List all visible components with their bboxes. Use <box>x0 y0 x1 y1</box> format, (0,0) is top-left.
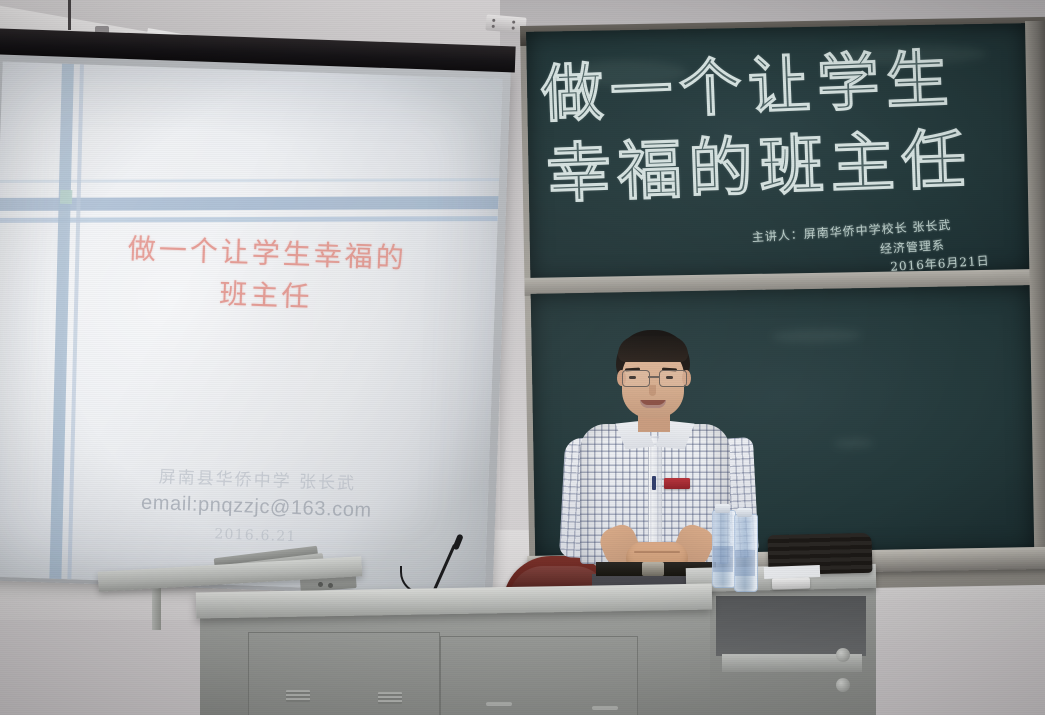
mobile-phone <box>772 578 810 590</box>
speaker-belt-buckle <box>642 562 664 576</box>
eyeglasses-icon <box>618 370 690 386</box>
cabinet-vent-right <box>378 692 402 704</box>
paper-sheet <box>764 565 820 579</box>
water-bottle-cap-right <box>737 508 752 517</box>
right-desk-recess <box>716 596 866 656</box>
dock-port-a <box>318 582 323 587</box>
projection-screen-surface: 做一个让学生幸福的 班主任 屏南县华侨中学 张长武 email:pnqzzjc@… <box>0 62 503 594</box>
slide-title: 做一个让学生幸福的 班主任 <box>0 224 497 325</box>
right-desk-knob-lower[interactable] <box>836 678 850 692</box>
blackboard-chalk-title-line2: 幸福的班主任 <box>545 108 974 215</box>
blackboard-upper-panel: 做一个让学生 幸福的班主任 主讲人：屏南华侨中学校长 张长武 经济管理系 201… <box>526 23 1030 282</box>
classroom-photo: 做一个让学生 幸福的班主任 主讲人：屏南华侨中学校长 张长武 经济管理系 201… <box>0 0 1045 715</box>
slide-subtitle-block: 屏南县华侨中学 张长武 email:pnqzzjc@163.com 2016.6… <box>0 456 489 551</box>
projection-screen-border: 做一个让学生幸福的 班主任 屏南县华侨中学 张长武 email:pnqzzjc@… <box>0 52 511 598</box>
speaker-hair-front <box>618 336 688 362</box>
slide-band-horizontal <box>0 196 503 211</box>
water-bottle-cap-left <box>715 504 730 513</box>
water-bottle-label-right <box>735 550 755 576</box>
light-suspension-rod <box>68 0 71 30</box>
podium-cabinet-left[interactable] <box>248 632 440 715</box>
cabinet-vent-left <box>286 690 310 702</box>
projection-screen-assembly: 做一个让学生幸福的 班主任 屏南县华侨中学 张长武 email:pnqzzjc@… <box>0 28 516 598</box>
speaker-mouth <box>640 400 666 408</box>
slide-band-thin-top <box>0 178 503 183</box>
right-desk-knob-upper[interactable] <box>836 648 850 662</box>
slide-band-crossing <box>60 190 72 204</box>
cabinet-handle-left[interactable] <box>486 702 512 706</box>
podium-cabinet-right[interactable] <box>440 636 638 715</box>
slide-date: 2016.6.21 <box>24 520 486 552</box>
speaker-name-badge <box>664 478 690 489</box>
speaker-pocket-pen <box>652 476 656 490</box>
dock-port-b <box>328 583 333 588</box>
speaker-nose <box>649 385 656 396</box>
cabinet-handle-right[interactable] <box>592 706 618 710</box>
water-bottle-label-left <box>713 546 733 572</box>
